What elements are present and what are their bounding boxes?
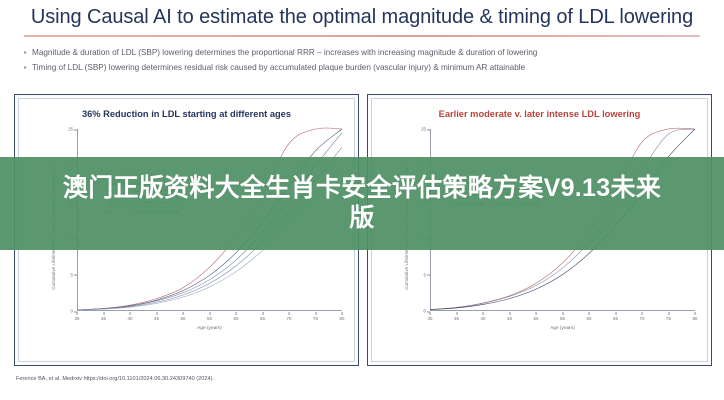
citation-text: Ference BA, et al. Medrxiv https://doi.o…: [16, 376, 214, 382]
chart-title-right: Earlier moderate v. later intense LDL lo…: [372, 109, 707, 119]
y-tick-label: 0: [71, 309, 73, 314]
x-tick-label: 35: [101, 316, 106, 321]
x-tick-label: 55: [560, 316, 565, 321]
x-tick-label: 45: [154, 316, 159, 321]
bullet-text: Magnitude & duration of LDL (SBP) loweri…: [32, 47, 712, 60]
y-tick-label: 25: [421, 127, 426, 132]
watermark-banner: 澳门正版资料大全生肖卡安全评估策略方案V9.13未来版: [0, 157, 724, 250]
page-title: Using Causal AI to estimate the optimal …: [0, 6, 724, 29]
x-tick-label: 60: [234, 316, 239, 321]
bullet-item: ▪ Timing of LDL (SBP) lowering determine…: [18, 62, 712, 75]
y-tick-label: 5: [71, 272, 73, 277]
x-axis-label-left: Age (years): [77, 326, 342, 331]
x-tick-label: 30: [75, 316, 80, 321]
x-tick-label: 50: [181, 316, 186, 321]
bullet-list: ▪ Magnitude & duration of LDL (SBP) lowe…: [18, 47, 712, 76]
x-tick-label: 50: [534, 316, 539, 321]
chart-title-left: 36% Reduction in LDL starting at differe…: [19, 109, 354, 119]
bullet-text: Timing of LDL (SBP) lowering determines …: [32, 62, 712, 75]
x-tick-label: 70: [640, 316, 645, 321]
x-tick-label: 75: [313, 316, 318, 321]
x-tick-label: 35: [454, 316, 459, 321]
x-tick-label: 60: [587, 316, 592, 321]
y-tick-label: 5: [424, 272, 426, 277]
slide-root: Using Causal AI to estimate the optimal …: [0, 0, 724, 400]
x-tick-label: 55: [207, 316, 212, 321]
watermark-banner-text: 澳门正版资料大全生肖卡安全评估策略方案V9.13未来版: [52, 174, 672, 233]
bullet-marker-icon: ▪: [18, 62, 32, 74]
x-axis-label-right: Age (years): [430, 326, 695, 331]
x-tick-label: 40: [128, 316, 133, 321]
x-tick-label: 30: [428, 316, 433, 321]
x-tick-label: 65: [613, 316, 618, 321]
title-divider: [24, 35, 700, 37]
x-tick-label: 45: [507, 316, 512, 321]
x-tick-label: 40: [481, 316, 486, 321]
x-tick-label: 80: [693, 316, 698, 321]
bullet-marker-icon: ▪: [18, 47, 32, 59]
x-tick-label: 80: [340, 316, 345, 321]
x-tick-label: 70: [287, 316, 292, 321]
x-tick-label: 75: [666, 316, 671, 321]
y-tick-label: 0: [424, 309, 426, 314]
x-tick-label: 65: [260, 316, 265, 321]
bullet-item: ▪ Magnitude & duration of LDL (SBP) lowe…: [18, 47, 712, 60]
y-tick-label: 25: [68, 127, 73, 132]
